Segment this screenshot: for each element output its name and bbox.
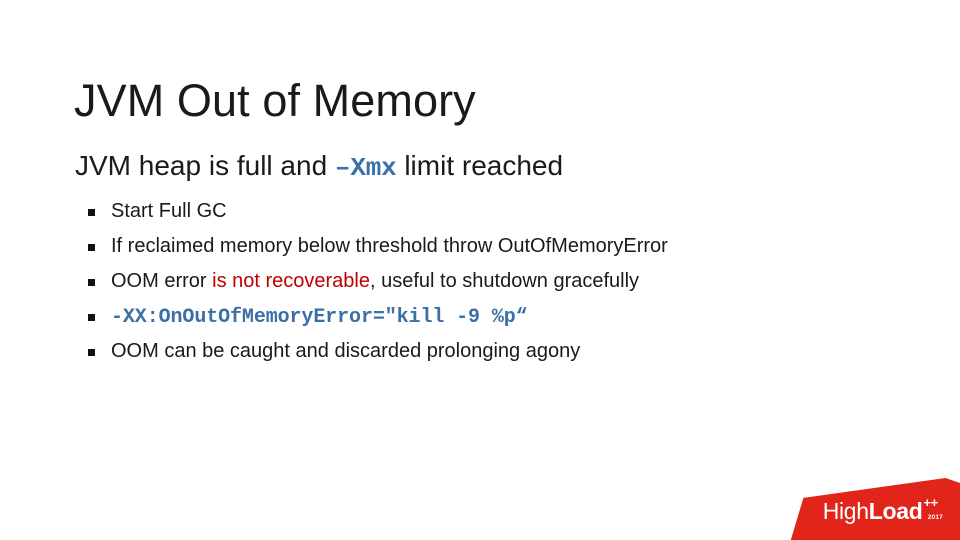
logo-year-text: 2017	[928, 515, 943, 522]
square-bullet-icon	[88, 314, 95, 321]
list-item: OOM error is not recoverable, useful to …	[88, 264, 918, 299]
square-bullet-icon	[88, 244, 95, 251]
list-item-label: OOM can be caught and discarded prolongi…	[111, 340, 580, 362]
square-bullet-icon	[88, 349, 95, 356]
list-item: If reclaimed memory below threshold thro…	[88, 229, 918, 264]
page-title: JVM Out of Memory	[74, 76, 476, 126]
lead-text-after: limit reached	[397, 150, 564, 181]
slide-canvas: JVM Out of Memory JVM heap is full and –…	[0, 0, 960, 540]
list-item-label: If reclaimed memory below threshold thro…	[111, 235, 668, 257]
highload-wordmark: HighLoad++2017	[823, 500, 952, 526]
lead-text-before: JVM heap is full and	[75, 150, 335, 181]
square-bullet-icon	[88, 209, 95, 216]
list-item-emphasis: is not recoverable	[212, 270, 370, 292]
logo-plusplus-text: ++	[924, 496, 938, 509]
logo-load-text: Load	[869, 500, 923, 523]
list-item: Start Full GC	[88, 194, 918, 229]
lead-statement: JVM heap is full and –Xmx limit reached	[75, 148, 563, 185]
bullet-list: Start Full GC If reclaimed memory below …	[88, 194, 918, 369]
list-item: OOM can be caught and discarded prolongi…	[88, 334, 918, 369]
xmx-flag-code: –Xmx	[335, 153, 397, 183]
square-bullet-icon	[88, 279, 95, 286]
highload-logo-banner: HighLoad++2017	[780, 478, 960, 540]
oom-kill-flag-code: -XX:OnOutOfMemoryError="kill -9 %p“	[111, 306, 528, 329]
logo-high-text: High	[823, 500, 869, 523]
list-item-code: -XX:OnOutOfMemoryError="kill -9 %p“	[88, 299, 918, 334]
list-item-label: OOM error	[111, 270, 212, 292]
list-item-label: Start Full GC	[111, 200, 227, 222]
list-item-label-tail: , useful to shutdown gracefully	[370, 270, 639, 292]
